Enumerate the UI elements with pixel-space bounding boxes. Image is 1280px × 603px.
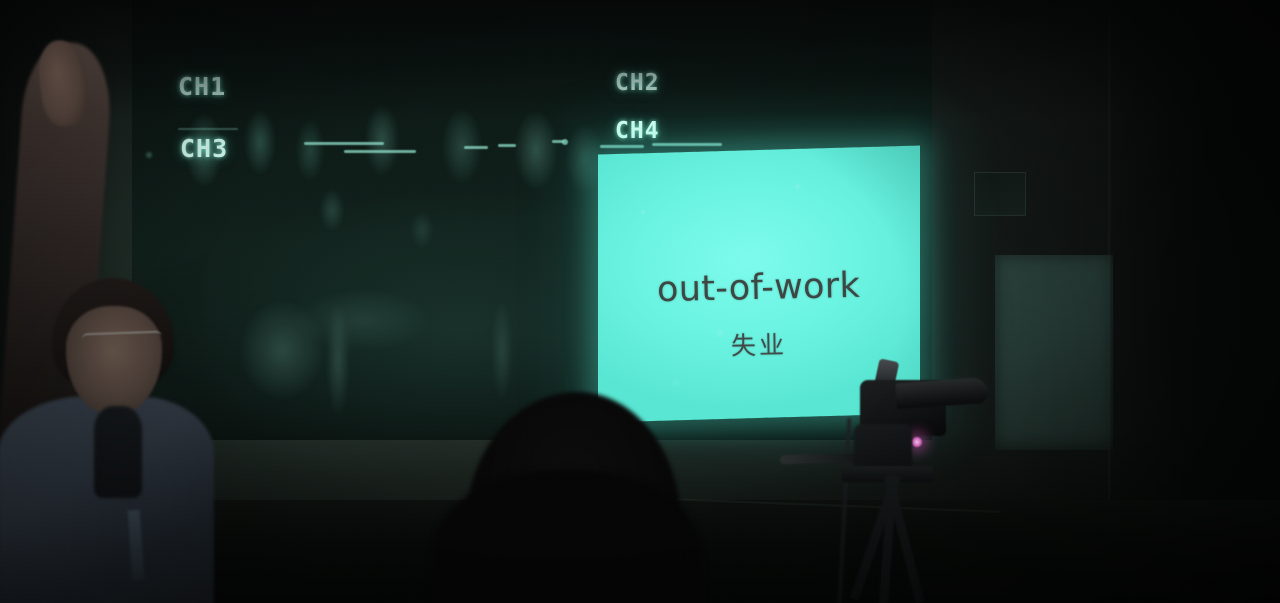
wall-sign	[974, 172, 1026, 216]
slide-term-english: out-of-work	[657, 266, 861, 310]
wall-top-shadow	[0, 0, 1280, 120]
camera-lens-hood	[895, 377, 989, 409]
record-led-icon	[911, 436, 923, 448]
wall-cabinet-panel	[995, 255, 1113, 450]
camera-cable	[837, 418, 851, 603]
student-with-glasses	[0, 270, 220, 603]
student-collar	[94, 406, 142, 498]
tripod-leg	[850, 475, 901, 601]
slide-term-chinese: 失业	[731, 326, 788, 363]
channel-label-ch3: CH3	[180, 134, 228, 163]
screenshot-root: CH1 CH2 CH3 CH4 out-of-work 失业	[0, 0, 1280, 603]
video-camera-on-tripod	[780, 358, 990, 603]
channel-label-ch4: CH4	[615, 118, 660, 144]
glasses-icon	[82, 331, 163, 350]
